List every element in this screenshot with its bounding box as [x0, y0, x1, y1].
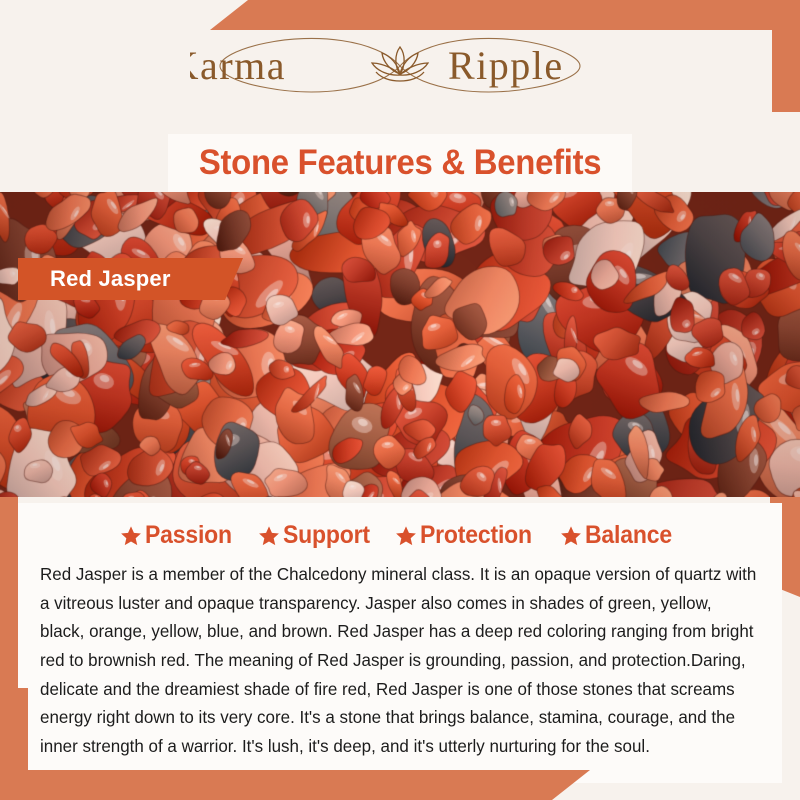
- benefit-label: Passion: [145, 521, 232, 550]
- corner-decoration-top-right: [210, 0, 800, 30]
- benefits-list: Passion Support Protection: [40, 521, 760, 550]
- benefit-item-support: Support: [258, 521, 377, 550]
- benefit-item-balance: Balance: [560, 521, 680, 550]
- benefit-item-passion: Passion: [120, 521, 239, 550]
- brand-name-right: Ripple: [448, 43, 564, 88]
- benefit-label: Balance: [585, 521, 672, 550]
- stone-name-ribbon: Red Jasper: [18, 258, 243, 300]
- brand-logo-artwork: Karma Ripple: [190, 27, 610, 105]
- stone-name-label: Red Jasper: [18, 266, 171, 292]
- corner-decoration-bottom-left-edge: [0, 688, 28, 800]
- benefit-label: Support: [283, 521, 370, 550]
- hero-photo: [0, 192, 800, 497]
- star-icon: [560, 525, 582, 547]
- star-icon: [120, 525, 142, 547]
- corner-decoration-bottom-left: [0, 770, 590, 800]
- stone-description-text: Red Jasper is a member of the Chalcedony…: [40, 560, 759, 761]
- brand-name-left: Karma: [190, 43, 286, 88]
- page-title: Stone Features & Benefits: [199, 143, 601, 183]
- brand-logo: Karma Ripple: [0, 26, 800, 106]
- benefit-label: Protection: [420, 521, 532, 550]
- red-jasper-stones-image: [0, 192, 800, 497]
- description-card: Passion Support Protection: [18, 503, 782, 783]
- corner-decoration-top-right-edge: [772, 0, 800, 112]
- product-infographic: Karma Ripple Stone Features & Benefits R…: [0, 0, 800, 800]
- section-title-plate: Stone Features & Benefits: [168, 134, 632, 192]
- benefit-item-protection: Protection: [395, 521, 542, 550]
- star-icon: [258, 525, 280, 547]
- description-section: Passion Support Protection: [0, 497, 800, 800]
- star-icon: [395, 525, 417, 547]
